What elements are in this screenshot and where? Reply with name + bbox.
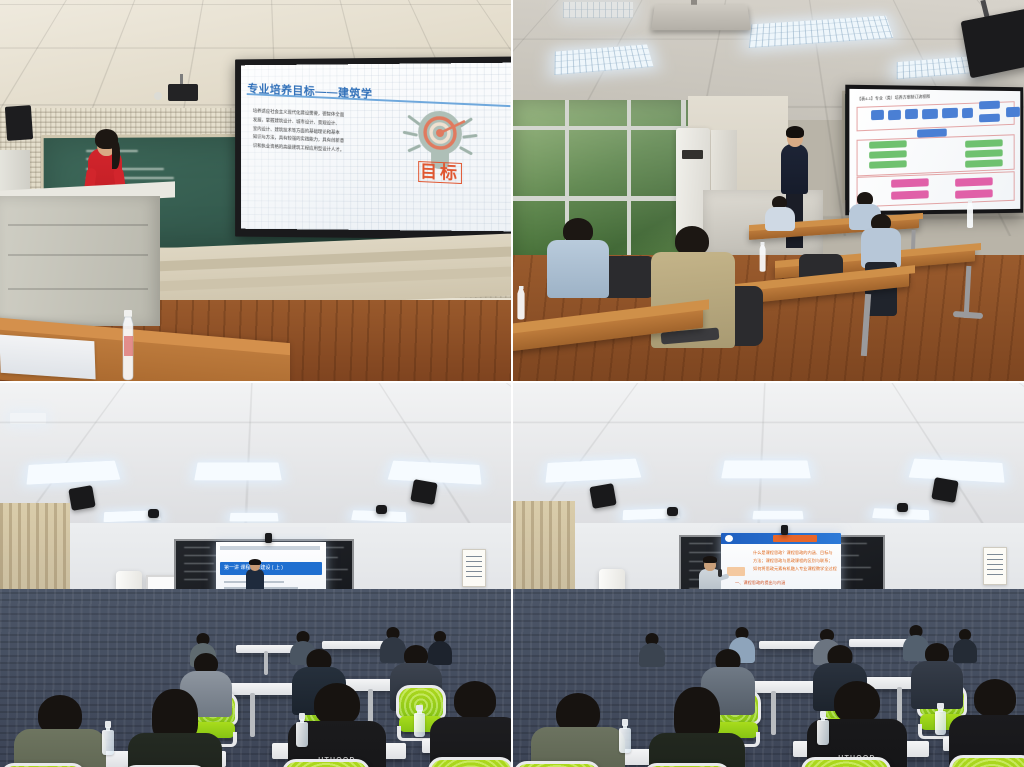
green-chair-front-left <box>513 761 601 767</box>
water-bottle-icon <box>296 713 308 747</box>
presenter-hair <box>703 556 717 563</box>
slide-body-text: 培养适应社会主义现代化建设需要，德智体全面 发展，掌握建筑设计、城市设计、景观设… <box>253 107 387 157</box>
microphone-icon <box>718 569 722 577</box>
ceiling-speaker-icon <box>931 477 958 503</box>
wall-poster <box>462 549 486 587</box>
wall-poster <box>983 547 1007 585</box>
slide-body-text: 什么是课程思政？课程思政的内涵、目标与 方法；课程思政与思政课程的区别与联系； … <box>753 549 837 573</box>
ceiling-speaker-icon <box>148 509 159 518</box>
green-chair-front-far-right <box>428 757 511 767</box>
ceiling-speaker-icon <box>589 483 616 509</box>
led-panel-light <box>10 413 46 424</box>
water-bottle-icon <box>619 719 631 753</box>
flowchart-node-blue <box>1006 107 1020 118</box>
slide-list-item: 一、课程思政的提出与内涵 <box>735 579 835 588</box>
student-front-far-right <box>949 679 1024 767</box>
photo-top-left-lecture-hall: 专业培养目标——建筑学 培养适应社会主义现代化建设需要，德智体全面 发展，掌握建… <box>0 0 511 381</box>
wall-speaker-icon <box>5 105 33 141</box>
water-bottle-icon <box>515 286 527 320</box>
photo-top-right-seminar-room: 【表4-1】专业（类）培养方案制订流程图 <box>513 0 1024 381</box>
desk-leg <box>771 691 776 735</box>
presenter-microphone-icon <box>265 533 272 543</box>
green-chair-front-left <box>0 763 86 767</box>
desk-leg <box>264 651 268 675</box>
ceiling-camera-icon <box>781 525 788 535</box>
ceiling-speaker-icon <box>897 503 908 512</box>
led-panel-light <box>194 462 282 480</box>
flowchart-node-blue <box>905 109 918 119</box>
dome-camera-icon <box>154 92 162 100</box>
ceiling-speaker-icon <box>667 507 678 516</box>
led-panel-light <box>229 513 278 521</box>
flowchart-node-green <box>869 160 907 168</box>
presenter-hair-side <box>112 141 120 169</box>
flowchart-node-pink <box>891 178 929 187</box>
student-front-left <box>14 695 106 767</box>
water-bottle-icon <box>817 711 829 745</box>
water-bottle-icon <box>118 310 138 381</box>
slide-header-badge <box>773 535 817 542</box>
slide-logo-icon <box>725 535 733 542</box>
water-bottle-icon <box>935 703 946 735</box>
green-chair-front-center <box>643 763 731 767</box>
photo-bottom-right-training-classroom: 什么是课程思政？课程思政的内涵、目标与 方法；课程思政与思政课程的区别与联系； … <box>513 383 1024 767</box>
podium <box>0 196 160 326</box>
papers-stack <box>0 335 96 380</box>
goal-caption-text: 目标 <box>418 161 462 184</box>
slide-body-line: 方法；课程思政与思政课程的区别与联系； <box>753 557 837 565</box>
ceiling-speaker-icon <box>68 485 95 511</box>
flowchart-node-green <box>965 159 1003 167</box>
flowchart-node-blue <box>979 101 1000 110</box>
water-bottle-icon <box>757 242 768 272</box>
led-panel-light <box>721 460 811 478</box>
ceiling-projector-icon <box>651 5 751 30</box>
photo-bottom-left-training-classroom: 第一讲 课程思政建设 ( 上 ) <box>0 383 511 767</box>
student-front-center-left <box>649 687 745 767</box>
flowchart-node-blue <box>888 110 901 120</box>
flowchart-node-green <box>869 150 907 158</box>
desk-leg <box>250 693 255 737</box>
attendee-back-left <box>765 196 795 230</box>
attendee-front-left <box>547 218 609 294</box>
speaker-array-icon <box>961 9 1024 79</box>
air-conditioner-vent <box>682 150 703 159</box>
student-front-far-right <box>430 681 511 767</box>
presenter-hair <box>249 559 261 565</box>
slide-body-line: 如何将思政元素有机融入专业课程教学全过程 <box>753 565 837 573</box>
student-far <box>639 633 665 667</box>
student-front-center-left <box>128 689 222 767</box>
ceiling-speaker-icon <box>376 505 387 514</box>
flowchart-node-blue <box>922 109 938 120</box>
slide-goal-caption: 目标 <box>400 156 480 185</box>
flowchart-node-blue <box>962 108 973 118</box>
flowchart-node-green <box>965 139 1003 147</box>
flowchart-node-pink <box>955 177 993 186</box>
green-chair-front-right <box>282 759 370 767</box>
slide-side-label <box>727 567 745 576</box>
student-front-left <box>531 693 625 767</box>
flowchart-node-green <box>965 149 1003 157</box>
slide-body-line: 什么是课程思政？课程思政的内涵、目标与 <box>753 549 837 557</box>
flowchart-node-blue <box>871 110 884 120</box>
flowchart-node-blue <box>979 114 1000 123</box>
green-chair-front-right <box>801 757 891 767</box>
water-bottle-icon <box>965 200 975 228</box>
flowchart-node-pink <box>955 189 993 198</box>
slide-banner-text: 第一讲 课程思政建设 ( 上 ) <box>224 564 318 571</box>
flowchart-node-blue <box>942 108 958 119</box>
water-bottle-icon <box>102 721 114 755</box>
ceiling-speaker-icon <box>410 479 437 505</box>
flowchart-node-green <box>869 140 907 148</box>
slide-header-strip <box>220 546 320 550</box>
attendee-mid-right <box>861 214 901 266</box>
ceiling-light-panel <box>563 2 633 18</box>
ceiling-speaker-icon <box>168 84 198 101</box>
presenter-hair <box>786 126 804 138</box>
flowchart-node-pink <box>891 190 929 199</box>
photo-collage-2x2: 专业培养目标——建筑学 培养适应社会主义现代化建设需要，德智体全面 发展，掌握建… <box>0 0 1024 767</box>
presenter-torso <box>781 144 808 194</box>
water-bottle-icon <box>414 705 425 737</box>
green-chair-front-far-right <box>949 755 1024 767</box>
desk-far <box>322 641 384 649</box>
led-panel-light <box>752 511 803 519</box>
